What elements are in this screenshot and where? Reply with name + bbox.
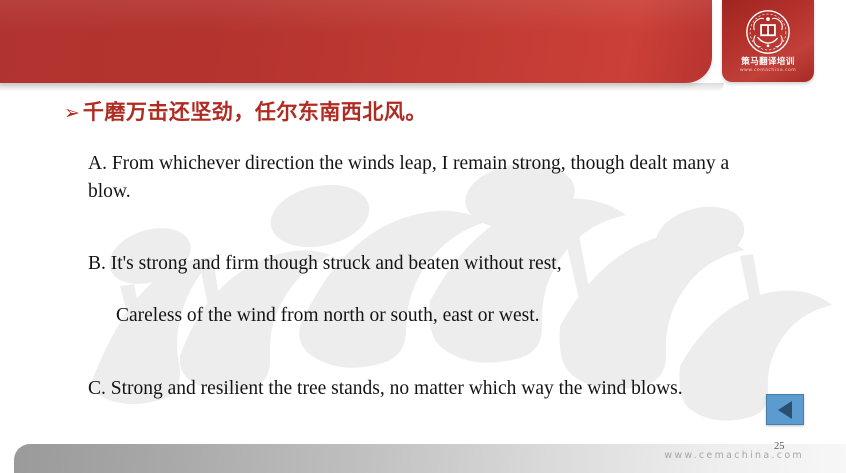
previous-slide-button[interactable] (766, 394, 804, 425)
horse-seal-emblem-icon (745, 9, 791, 55)
header-banner (0, 0, 712, 83)
company-logo-badge: 策马翻译培训 www.cemachina.com (722, 0, 814, 82)
answer-option-a-text: A. From whichever direction the winds le… (88, 153, 729, 202)
slide-heading: ➢ 千磨万击还坚劲，任尔东南西北风。 (64, 96, 427, 126)
answer-option-b: B. It's strong and firm though struck an… (88, 250, 733, 329)
answer-option-c: C. Strong and resilient the tree stands,… (88, 375, 708, 403)
answer-option-a: A. From whichever direction the winds le… (88, 150, 733, 205)
logo-company-name: 策马翻译培训 (722, 55, 814, 67)
triangle-left-icon (778, 401, 792, 419)
presentation-slide: 外交部例行记者会 GROUPHORSE TRANSLATIONS 联合国官方翻译… (0, 0, 846, 473)
slide-content: ➢ 千磨万击还坚劲，任尔东南西北风。 A. From whichever dir… (0, 92, 846, 444)
answer-option-c-text: C. Strong and resilient the tree stands,… (88, 378, 683, 399)
arrow-bullet-icon: ➢ (64, 104, 80, 123)
slide-page-number: 25 (774, 441, 785, 452)
header-shadow-strip (0, 83, 724, 92)
logo-website-url: www.cemachina.com (722, 68, 814, 73)
heading-text: 千磨万击还坚劲，任尔东南西北风。 (83, 96, 427, 126)
answer-option-b-line2: Careless of the wind from north or south… (88, 302, 733, 330)
answer-option-b-line1: B. It's strong and firm though struck an… (88, 253, 562, 274)
